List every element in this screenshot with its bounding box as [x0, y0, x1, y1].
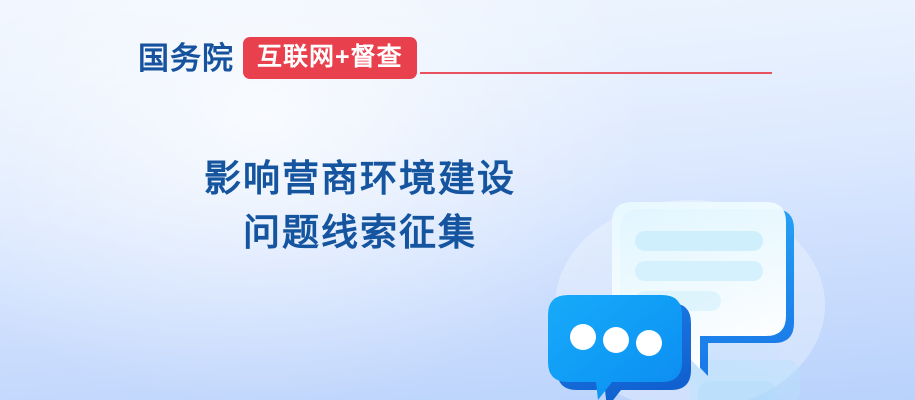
banner-header: 国务院 互联网+督查 — [138, 36, 417, 80]
typing-dot-1 — [570, 324, 596, 350]
banner-root: 国务院 互联网+督查 影响营商环境建设 问题线索征集 — [0, 0, 915, 400]
gov-council-label: 国务院 — [138, 43, 234, 74]
typing-dot-3 — [636, 330, 662, 356]
internet-plus-supervision-badge: 互联网+督查 — [243, 37, 417, 79]
typing-dot-2 — [603, 327, 629, 353]
chat-bubbles-illustration — [540, 185, 830, 400]
header-divider-rule — [420, 72, 772, 74]
